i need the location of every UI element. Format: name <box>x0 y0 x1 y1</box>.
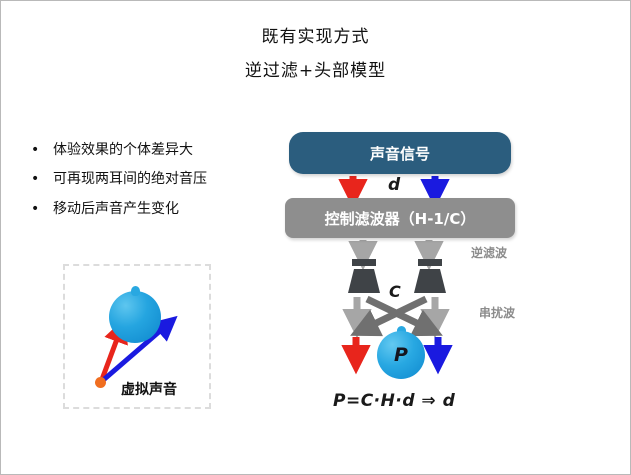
speaker-left-icon <box>347 259 381 295</box>
listener-head-label: P <box>377 331 425 379</box>
crosstalk-label: 串扰波 <box>479 304 515 321</box>
inverse-filter-label: 逆滤波 <box>471 244 507 261</box>
signal-d-label: d <box>388 175 400 195</box>
crosstalk-c-label: C <box>389 282 401 301</box>
formula-text: P=C·H·d ⇒ d <box>333 391 455 411</box>
signal-flow-diagram <box>1 1 631 475</box>
sound-signal-box[interactable]: 声音信号 <box>289 132 511 174</box>
speaker-right-icon <box>413 259 447 295</box>
control-filter-box[interactable]: 控制滤波器（H-1/C） <box>285 198 515 238</box>
slide-canvas: 既有实现方式 逆过滤+头部模型 • 体验效果的个体差异大 • 可再现两耳间的绝对… <box>0 0 631 475</box>
